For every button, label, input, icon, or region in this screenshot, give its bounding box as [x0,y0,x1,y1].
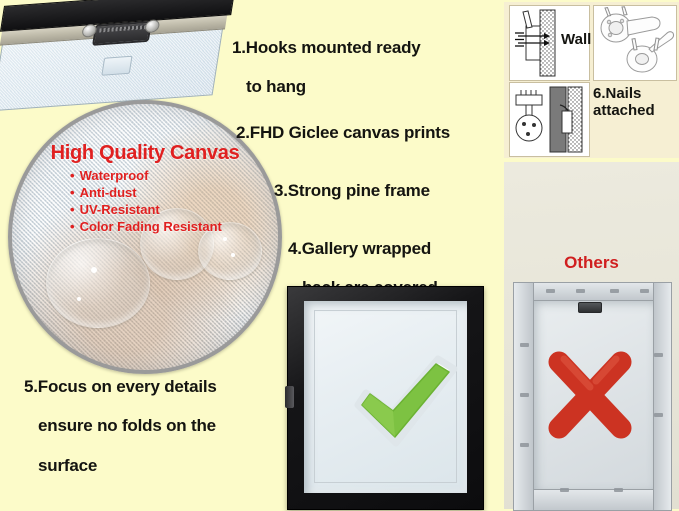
feature-item-3: 3.Strong pine frame [274,161,430,220]
good-canvas-interior [304,301,467,493]
side-hanging-hook-icon [285,386,294,408]
feature-5-line3: surface [24,456,217,476]
check-mark-icon [352,353,460,449]
staple-icon [610,289,619,293]
x-mark-icon [540,345,640,445]
staple-icon [640,289,649,293]
feature-2-number: 2. [236,123,250,142]
frame-bar-right [653,283,671,510]
good-canvas-frame-photo [287,286,484,510]
mounting-instructions-panel: Wall [504,2,679,158]
hook-on-wall-diagram [509,82,590,157]
nail-into-wall-diagram: Wall [509,5,590,81]
staple-icon [654,413,663,417]
others-canvas-frame-photo [513,282,672,511]
feature-4-number: 4. [288,239,302,258]
staple-icon [576,289,585,293]
staple-icon [560,488,569,492]
feature-5-line1: Focus on every details [38,377,217,396]
others-label: Others [504,253,679,273]
water-droplet-large [46,238,150,328]
wall-label: Wall [561,31,591,48]
others-hanging-clip-icon [578,302,602,313]
staple-icon [546,289,555,293]
feature-2-line1: FHD Giclee canvas prints [250,123,450,142]
others-comparison-panel: Others [504,162,679,509]
staple-icon [614,488,623,492]
feature-5-number: 5. [24,377,38,396]
nails-attached-line2: attached [593,103,679,120]
staple-icon [520,393,529,397]
nail-hooks-photo [593,5,677,81]
feature-item-1: 1.Hooks mounted ready to hang [232,18,421,117]
staple-icon [520,343,529,347]
canvas-back-photo [2,2,242,114]
feature-3-number: 3. [274,181,288,200]
list-item: UV-Resistant [70,202,222,219]
list-item: Anti-dust [70,185,222,202]
feature-1-line2: to hang [232,77,421,97]
feature-1-line1: Hooks mounted ready [246,38,421,57]
canvas-corner-tab [101,56,132,76]
feature-4-line1: Gallery wrapped [302,239,431,258]
staple-icon [654,353,663,357]
magnifier-bullet-list: Waterproof Anti-dust UV-Resistant Color … [70,168,222,236]
nails-attached-line1: 6.Nails [593,86,679,103]
canvas-back-plate [0,0,237,110]
list-item: Waterproof [70,168,222,185]
frame-bar-bottom [514,489,671,510]
feature-5-line2: ensure no folds on the [24,416,217,436]
nails-attached-label: 6.Nails attached [593,86,679,120]
feature-1-number: 1. [232,38,246,57]
hanging-hook-icon [92,21,152,46]
staple-icon [520,443,529,447]
feature-item-5: 5.Focus on every details ensure no folds… [24,357,217,495]
infographic-canvas: High Quality Canvas Waterproof Anti-dust… [0,0,679,509]
list-item: Color Fading Resistant [70,219,222,236]
feature-3-line1: Strong pine frame [288,181,430,200]
feature-item-2: 2.FHD Giclee canvas prints [236,103,450,162]
